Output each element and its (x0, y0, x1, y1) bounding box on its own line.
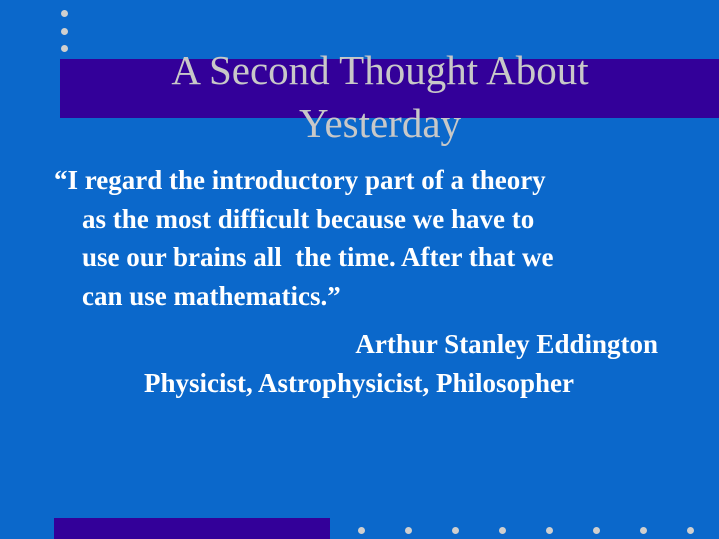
quote-line: as the most difficult because we have to (54, 200, 666, 239)
bullet-dot-icon (546, 527, 553, 534)
bullet-dot-icon (61, 28, 68, 35)
quote-body: “I regard the introductory part of a the… (54, 161, 666, 315)
bullet-dot-icon (687, 527, 694, 534)
attribution-role: Physicist, Astrophysicist, Philosopher (60, 364, 658, 403)
footer-accent-band (54, 518, 330, 539)
bullet-dot-icon (452, 527, 459, 534)
bullet-dot-icon (640, 527, 647, 534)
slide-title: A Second Thought About Yesterday (60, 44, 700, 150)
bullet-dot-icon (61, 10, 68, 17)
bullet-dot-icon (405, 527, 412, 534)
quote-attribution: Arthur Stanley Eddington Physicist, Astr… (60, 325, 658, 402)
attribution-name: Arthur Stanley Eddington (60, 325, 658, 364)
quote-line: can use mathematics.” (54, 277, 666, 316)
bullet-dot-icon (499, 527, 506, 534)
quote-line: “I regard the introductory part of a the… (54, 161, 666, 200)
presentation-slide: A Second Thought About Yesterday “I rega… (0, 0, 719, 539)
bullet-dot-icon (593, 527, 600, 534)
quote-line: use our brains all the time. After that … (54, 238, 666, 277)
bullet-dot-icon (358, 527, 365, 534)
